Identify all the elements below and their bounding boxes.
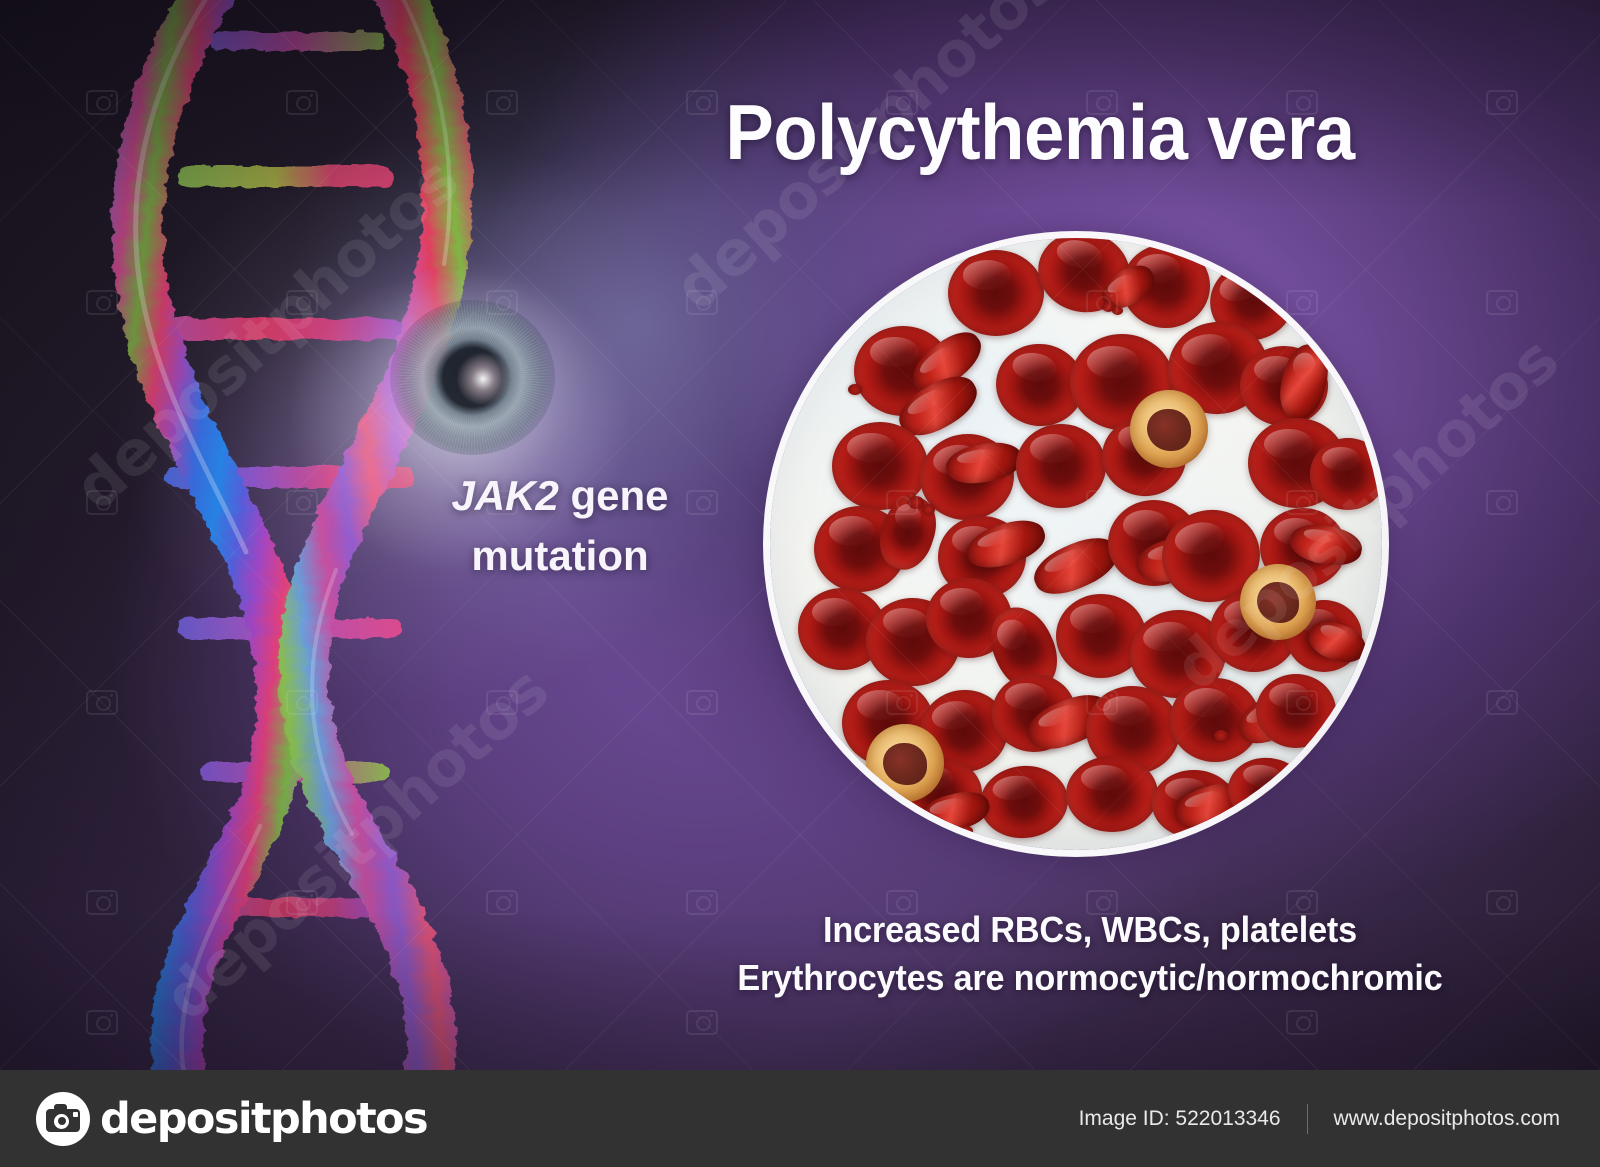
watermark-camera-icon <box>686 690 718 715</box>
stock-footer-bar: depositphotos Image ID: 522013346 www.de… <box>0 1070 1600 1167</box>
depositphotos-logo[interactable]: depositphotos <box>36 1092 427 1146</box>
watermark-camera-icon <box>1486 290 1518 315</box>
website-link[interactable]: www.depositphotos.com <box>1334 1107 1560 1131</box>
jak2-label-mutation-word: mutation <box>471 532 648 579</box>
watermark-camera-icon <box>1086 490 1118 515</box>
caption-line-1: Increased RBCs, WBCs, platelets <box>682 906 1499 954</box>
brand-wordmark: depositphotos <box>100 1094 427 1144</box>
watermark-camera-icon <box>1286 690 1318 715</box>
watermark-camera-icon <box>86 1010 118 1035</box>
watermark-camera-icon <box>486 290 518 315</box>
watermark-camera-icon <box>486 90 518 115</box>
watermark-camera-icon <box>286 490 318 515</box>
jak2-gene-name: JAK2 <box>451 472 558 519</box>
footer-divider <box>1307 1104 1308 1134</box>
blood-findings-caption: Increased RBCs, WBCs, platelets Erythroc… <box>682 906 1499 1002</box>
watermark-camera-icon <box>1086 290 1118 315</box>
camera-flash <box>73 1112 78 1117</box>
footer-meta: Image ID: 522013346 www.depositphotos.co… <box>1079 1104 1560 1134</box>
watermark-camera-icon <box>1286 290 1318 315</box>
jak2-gene-mutation-label: JAK2 gene mutation <box>400 466 720 585</box>
watermark-camera-icon <box>1486 690 1518 715</box>
watermark-camera-icon <box>1486 490 1518 515</box>
camera-icon <box>36 1092 90 1146</box>
watermark-camera-icon <box>86 90 118 115</box>
watermark-camera-icon <box>86 690 118 715</box>
watermark-camera-icon <box>1286 1010 1318 1035</box>
illustration-canvas: depositphotos depositphotos depositphoto… <box>0 0 1600 1167</box>
watermark-camera-icon <box>286 690 318 715</box>
watermark-wordmark: depositphotos <box>150 653 562 1034</box>
watermark-camera-icon <box>886 490 918 515</box>
watermark-camera-icon <box>286 90 318 115</box>
watermark-camera-icon <box>486 890 518 915</box>
image-id-label: Image ID: 522013346 <box>1079 1107 1281 1131</box>
jak2-label-gene-word: gene <box>559 472 669 519</box>
caption-line-2: Erythrocytes are normocytic/normochromic <box>682 954 1499 1002</box>
watermark-camera-icon <box>86 890 118 915</box>
camera-lens <box>54 1114 69 1129</box>
watermark-camera-icon <box>886 290 918 315</box>
page-title: Polycythemia vera <box>668 90 1412 174</box>
watermark-camera-icon <box>1486 90 1518 115</box>
watermark-camera-icon <box>886 690 918 715</box>
watermark-camera-icon <box>1086 690 1118 715</box>
watermark-camera-icon <box>686 1010 718 1035</box>
watermark-camera-icon <box>86 290 118 315</box>
